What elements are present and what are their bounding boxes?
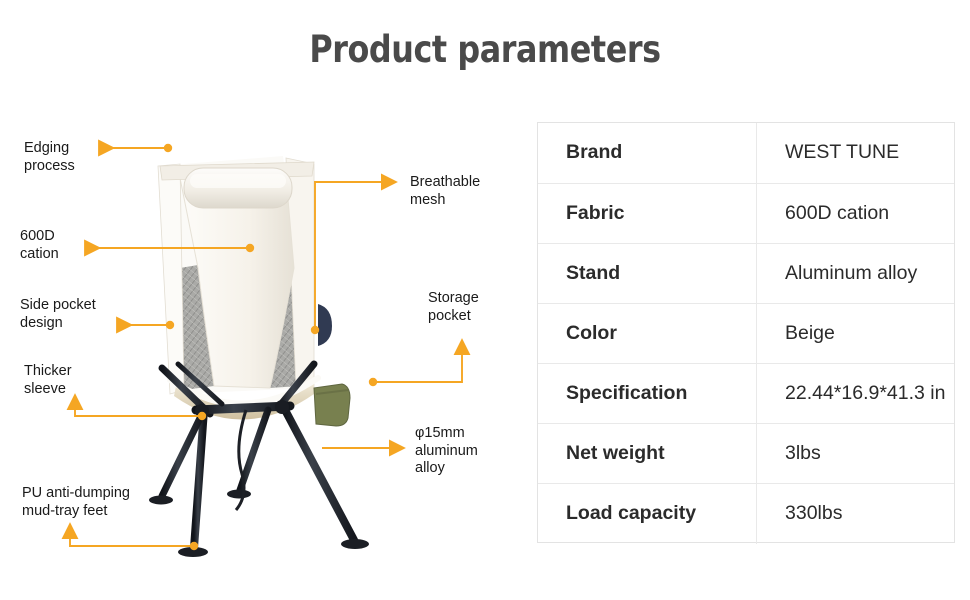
- table-row: Load capacity330lbs: [538, 484, 954, 544]
- spec-value: Beige: [757, 303, 955, 363]
- spec-label: Stand: [538, 243, 757, 303]
- table-row: ColorBeige: [538, 303, 954, 363]
- callout-pu-mud-tray-feet: PU anti-dumping mud-tray feet: [22, 485, 130, 520]
- spec-value: 3lbs: [757, 423, 955, 483]
- table-row: Fabric600D cation: [538, 183, 954, 243]
- spec-value: WEST TUNE: [757, 123, 955, 183]
- page-title: Product parameters: [68, 28, 902, 71]
- infographic-canvas: Product parameters: [0, 0, 970, 600]
- table-row: StandAluminum alloy: [538, 243, 954, 303]
- spec-value: 22.44*16.9*41.3 in: [757, 363, 955, 423]
- spec-value: 600D cation: [757, 183, 955, 243]
- product-image: [118, 118, 418, 558]
- callout-side-pocket-design: Side pocket design: [20, 297, 96, 332]
- table-row: BrandWEST TUNE: [538, 123, 954, 183]
- spec-value: 330lbs: [757, 484, 955, 544]
- spec-label: Load capacity: [538, 484, 757, 544]
- spec-table: BrandWEST TUNEFabric600D cationStandAlum…: [537, 122, 955, 543]
- spec-label: Brand: [538, 123, 757, 183]
- spec-label: Color: [538, 303, 757, 363]
- table-row: Specification22.44*16.9*41.3 in: [538, 363, 954, 423]
- callout-aluminum-alloy: φ15mm aluminum alloy: [415, 425, 478, 478]
- callout-edging-process: Edging process: [24, 140, 75, 175]
- callout-600d-cation: 600D cation: [20, 228, 59, 263]
- table-row: Net weight3lbs: [538, 423, 954, 483]
- callout-thicker-sleeve: Thicker sleeve: [24, 363, 72, 398]
- callout-breathable-mesh: Breathable mesh: [410, 174, 480, 209]
- spec-label: Fabric: [538, 183, 757, 243]
- spec-value: Aluminum alloy: [757, 243, 955, 303]
- callout-storage-pocket: Storage pocket: [428, 290, 479, 325]
- spec-label: Net weight: [538, 423, 757, 483]
- spec-label: Specification: [538, 363, 757, 423]
